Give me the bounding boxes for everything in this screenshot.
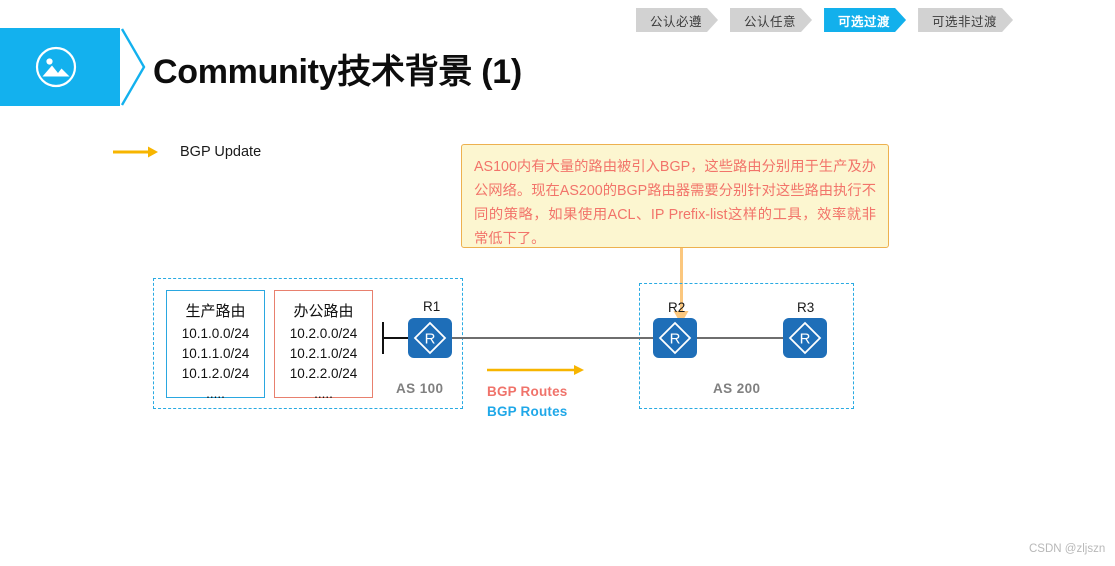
route-table-production-row-4: ..... bbox=[167, 384, 264, 404]
router-r1[interactable]: R bbox=[408, 318, 452, 358]
router-r3[interactable]: R bbox=[783, 318, 827, 358]
arrow-right-icon bbox=[113, 145, 159, 159]
route-table-office-title: 办公路由 bbox=[275, 300, 372, 321]
callout-text: AS100内有大量的路由被引入BGP，这些路由分别用于生产及办公网络。现在AS2… bbox=[474, 155, 876, 251]
svg-text:R: R bbox=[800, 331, 811, 348]
page-title: Community技术背景 (1) bbox=[153, 44, 522, 93]
breadcrumb-item-1[interactable]: 公认必遵 bbox=[636, 8, 718, 32]
link-r2-r3 bbox=[697, 337, 784, 339]
bgp-routes-arrow-icon bbox=[487, 364, 585, 376]
router-r2[interactable]: R bbox=[653, 318, 697, 358]
route-table-office: 办公路由 10.2.0.0/24 10.2.1.0/24 10.2.2.0/24… bbox=[274, 290, 373, 398]
bgp-routes-label-office: BGP Routes bbox=[487, 404, 568, 419]
breadcrumb: 公认必遵 公认任意 可选过渡 可选非过渡 bbox=[636, 8, 1013, 32]
router-r2-label: R2 bbox=[668, 300, 685, 315]
as100-label: AS 100 bbox=[396, 381, 443, 396]
breadcrumb-item-1-label: 公认必遵 bbox=[650, 11, 702, 30]
route-table-production-row-3: 10.1.2.0/24 bbox=[167, 364, 264, 384]
breadcrumb-item-2[interactable]: 公认任意 bbox=[730, 8, 812, 32]
route-table-production-row-2: 10.1.1.0/24 bbox=[167, 344, 264, 364]
route-table-office-row-3: 10.2.2.0/24 bbox=[275, 364, 372, 384]
route-table-production: 生产路由 10.1.0.0/24 10.1.1.0/24 10.1.2.0/24… bbox=[166, 290, 265, 398]
legend: BGP Update bbox=[113, 144, 261, 160]
legend-label: BGP Update bbox=[180, 144, 261, 160]
route-table-production-row-1: 10.1.0.0/24 bbox=[167, 324, 264, 344]
breadcrumb-item-4[interactable]: 可选非过渡 bbox=[918, 8, 1013, 32]
link-r1-r2 bbox=[452, 337, 654, 339]
router-icon: R bbox=[788, 321, 822, 355]
callout-box: AS100内有大量的路由被引入BGP，这些路由分别用于生产及办公网络。现在AS2… bbox=[461, 144, 889, 248]
router-r3-label: R3 bbox=[797, 300, 814, 315]
slide-canvas: 公认必遵 公认任意 可选过渡 可选非过渡 Community技术背景 (1) B… bbox=[0, 0, 1115, 566]
bgp-routes-label-production: BGP Routes bbox=[487, 384, 568, 399]
router-r1-label: R1 bbox=[423, 299, 440, 314]
breadcrumb-item-3-label: 可选过渡 bbox=[838, 11, 890, 30]
breadcrumb-item-4-label: 可选非过渡 bbox=[932, 11, 997, 30]
as200-label: AS 200 bbox=[713, 381, 760, 396]
route-table-office-row-1: 10.2.0.0/24 bbox=[275, 324, 372, 344]
r1-stub-horizontal bbox=[382, 337, 409, 339]
svg-text:R: R bbox=[425, 331, 436, 348]
breadcrumb-item-2-label: 公认任意 bbox=[744, 11, 796, 30]
svg-text:R: R bbox=[670, 331, 681, 348]
breadcrumb-item-3-active[interactable]: 可选过渡 bbox=[824, 8, 906, 32]
route-table-office-row-4: ..... bbox=[275, 384, 372, 404]
banner-chevron-accent bbox=[120, 28, 146, 106]
watermark: CSDN @zljszn bbox=[1029, 543, 1105, 555]
route-table-office-row-2: 10.2.1.0/24 bbox=[275, 344, 372, 364]
router-icon: R bbox=[658, 321, 692, 355]
router-icon: R bbox=[413, 321, 447, 355]
image-picture-icon bbox=[35, 46, 77, 88]
route-table-production-title: 生产路由 bbox=[167, 300, 264, 321]
